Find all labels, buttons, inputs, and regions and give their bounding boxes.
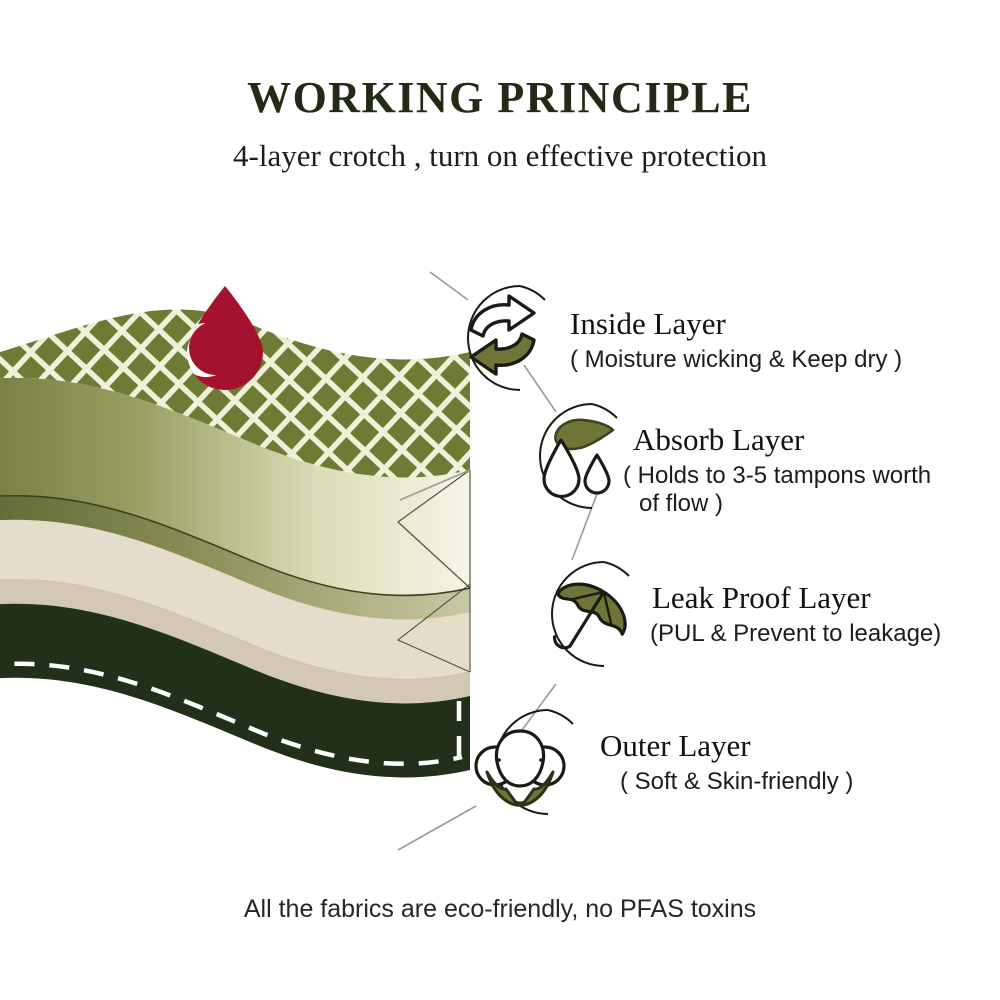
water-drops-icon — [544, 420, 613, 497]
outer-layer-subtitle: ( Soft & Skin-friendly ) — [620, 768, 853, 796]
inside-layer-title: Inside Layer — [570, 307, 902, 342]
infographic-page: WORKING PRINCIPLE 4-layer crotch , turn … — [0, 0, 1000, 1000]
inside-layer-subtitle: ( Moisture wicking & Keep dry ) — [570, 346, 902, 374]
legend-item-absorb-layer: Absorb Layer ( Holds to 3-5 tampons wort… — [633, 423, 931, 518]
badge-leak-proof-layer[interactable] — [535, 562, 636, 671]
legend-item-inside-layer: Inside Layer ( Moisture wicking & Keep d… — [570, 307, 902, 374]
outer-layer-title: Outer Layer — [600, 729, 853, 764]
leak-proof-layer-subtitle: (PUL & Prevent to leakage) — [650, 620, 941, 648]
badge-absorb-layer[interactable] — [540, 404, 617, 508]
legend-item-outer-layer: Outer Layer ( Soft & Skin-friendly ) — [600, 729, 853, 796]
refresh-arrows-icon — [471, 296, 534, 374]
absorb-layer-title: Absorb Layer — [633, 423, 931, 458]
leak-proof-layer-title: Leak Proof Layer — [652, 581, 941, 616]
footer-note: All the fabrics are eco-friendly, no PFA… — [0, 895, 1000, 924]
absorb-layer-subtitle-line1: ( Holds to 3-5 tampons worth — [623, 462, 931, 490]
badge-inside-layer[interactable] — [468, 286, 545, 390]
legend-item-leak-proof-layer: Leak Proof Layer (PUL & Prevent to leaka… — [652, 581, 941, 648]
absorb-layer-subtitle-line2: of flow ) — [639, 490, 931, 518]
umbrella-icon — [535, 572, 636, 671]
cotton-boll-icon — [476, 731, 564, 805]
